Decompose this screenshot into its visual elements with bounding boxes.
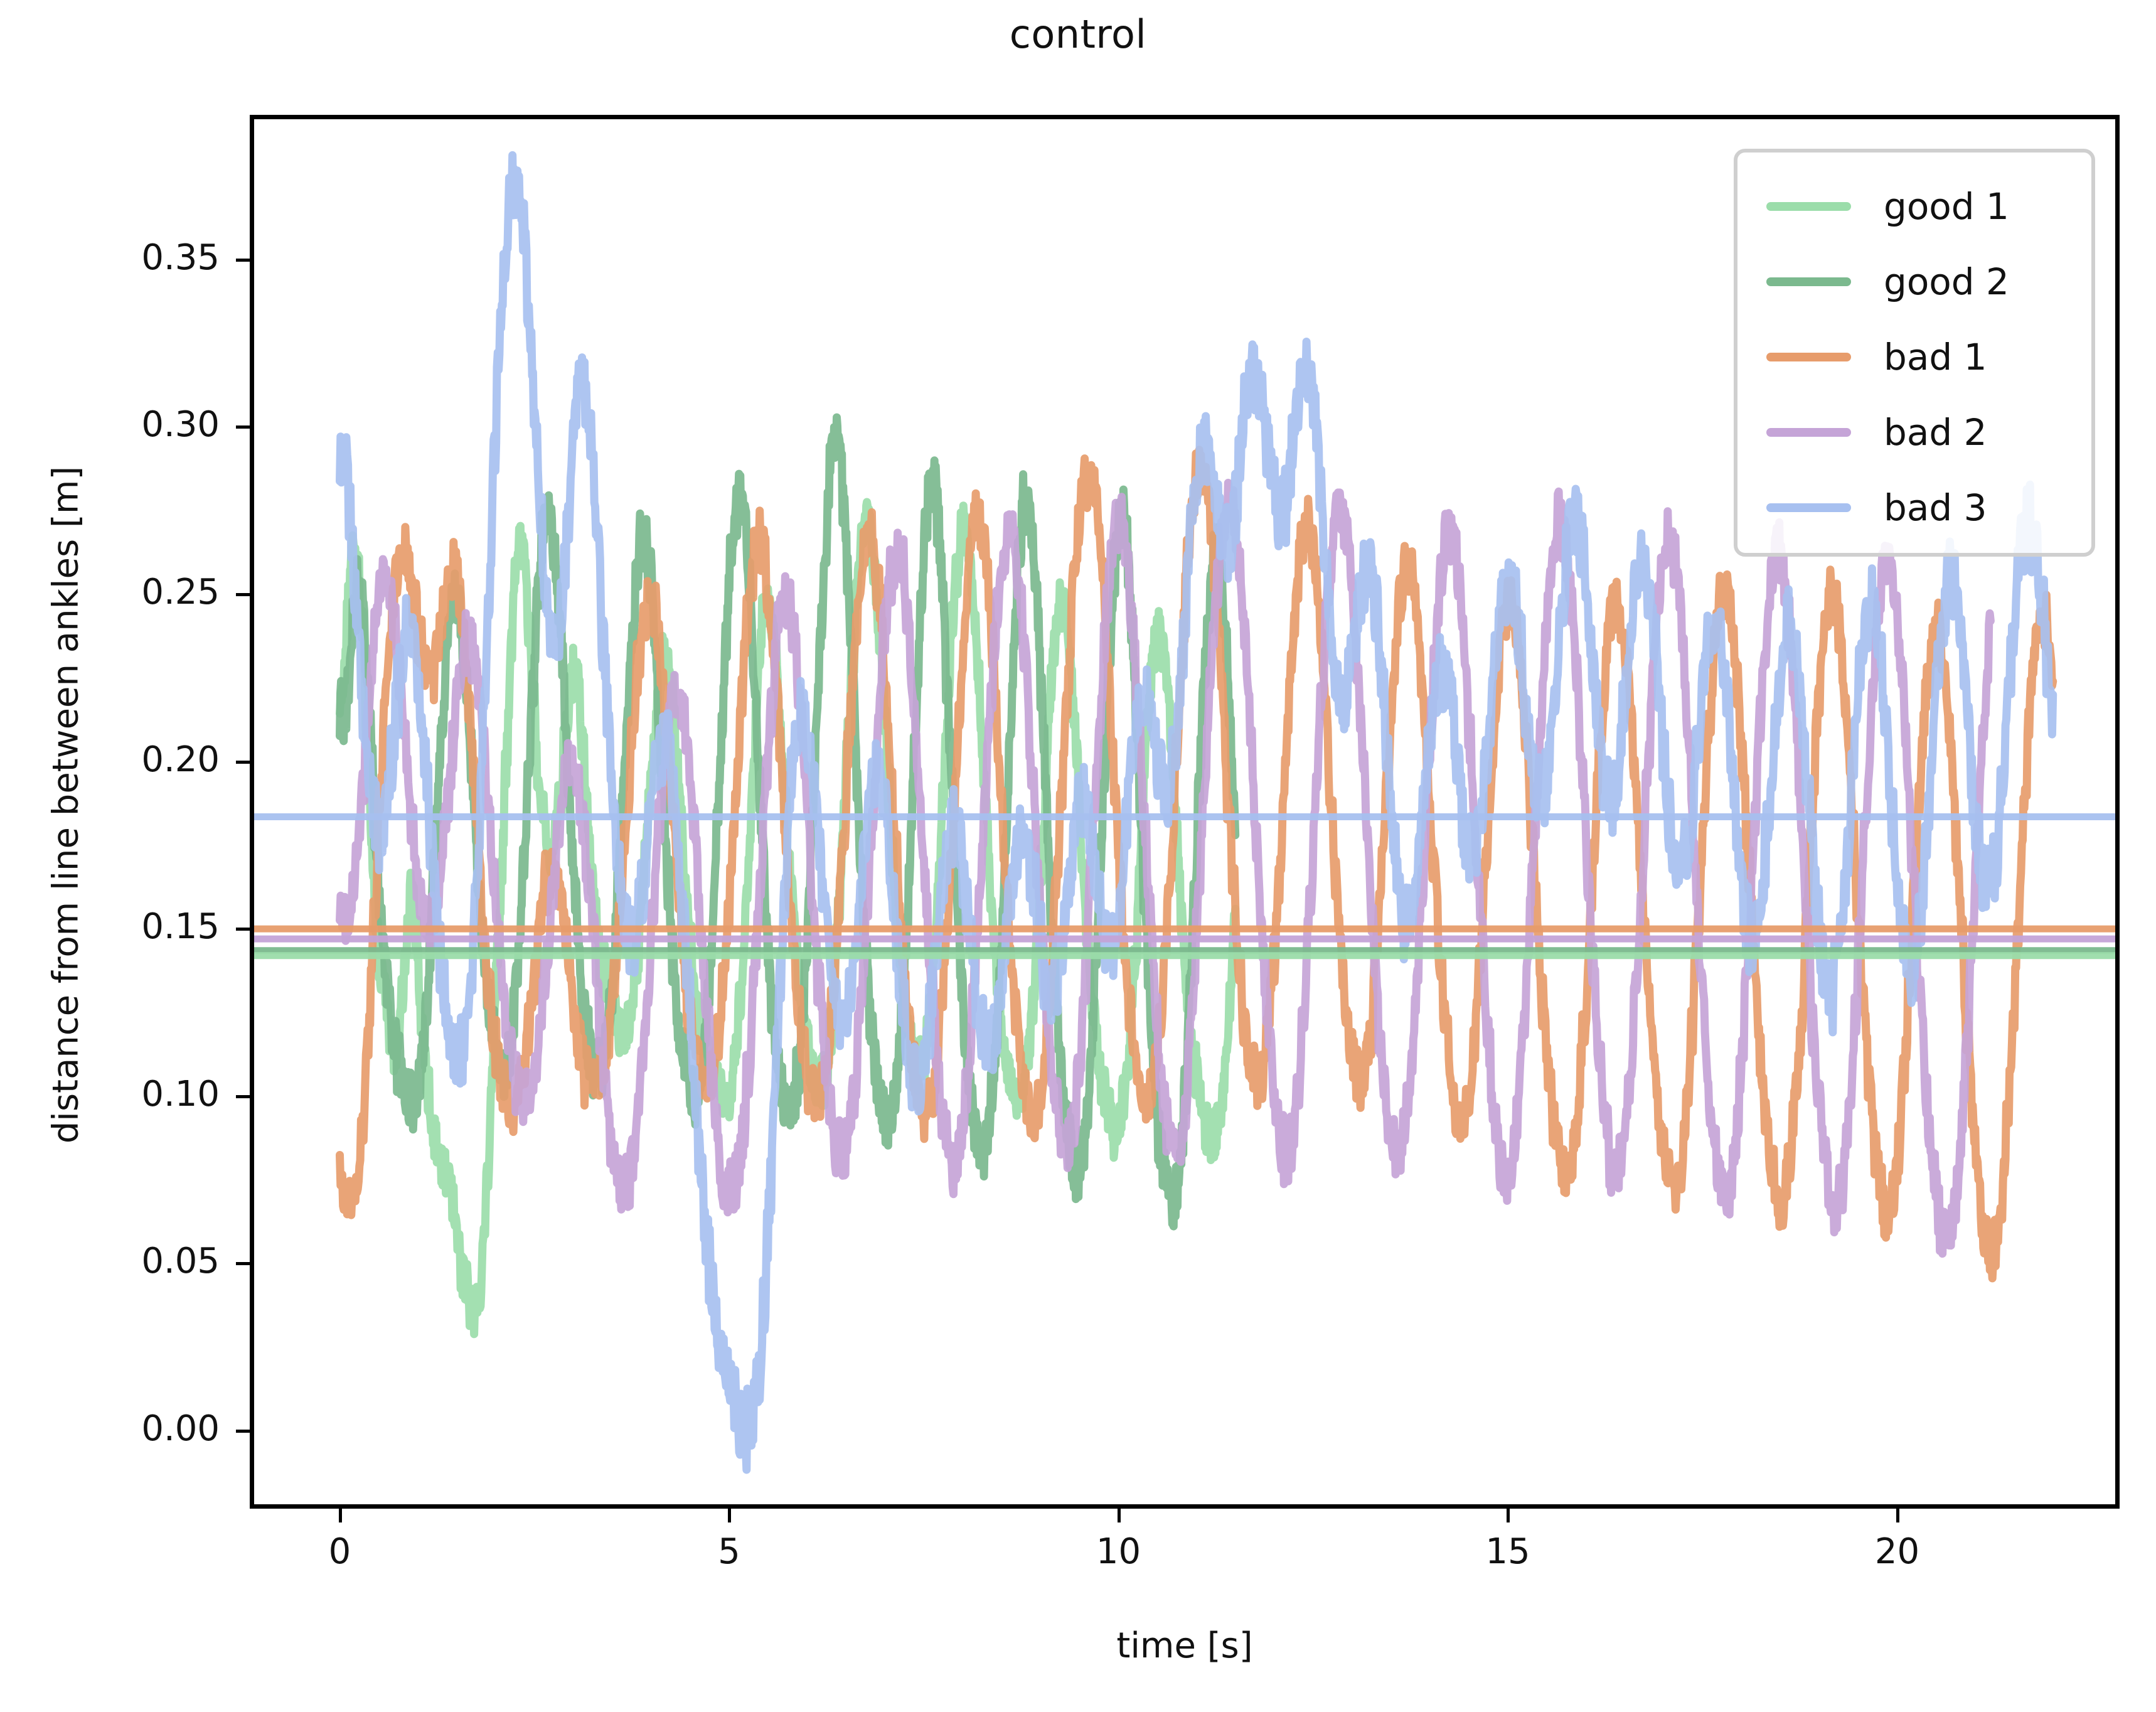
y-tick-label: 0.30 <box>75 404 220 445</box>
legend-item-good-2[interactable]: good 2 <box>1737 244 2091 319</box>
legend-item-bad-2[interactable]: bad 2 <box>1737 395 2091 470</box>
y-tick-label: 0.00 <box>75 1408 220 1449</box>
y-tick-mark <box>236 259 250 262</box>
y-tick-label: 0.20 <box>75 739 220 780</box>
x-tick-mark <box>1896 1509 1899 1522</box>
y-tick-mark <box>236 1095 250 1098</box>
page-title: control <box>0 11 2156 57</box>
x-tick-mark <box>728 1509 731 1522</box>
y-tick-label: 0.35 <box>75 237 220 278</box>
x-tick-label: 20 <box>1847 1531 1948 1572</box>
x-tick-label: 15 <box>1458 1531 1558 1572</box>
y-tick-label: 0.10 <box>75 1074 220 1115</box>
x-axis-label: time [s] <box>250 1625 2120 1666</box>
x-tick-label: 5 <box>679 1531 779 1572</box>
y-axis-label: distance from line between ankles [m] <box>46 105 87 1505</box>
legend-item-label: bad 2 <box>1884 414 1987 451</box>
y-tick-mark <box>236 425 250 429</box>
legend-swatch-icon <box>1766 428 1851 437</box>
legend-item-bad-1[interactable]: bad 1 <box>1737 319 2091 395</box>
y-tick-mark <box>236 1430 250 1433</box>
figure-canvas: control distance from line between ankle… <box>0 0 2156 1712</box>
legend-item-label: good 1 <box>1884 188 2009 225</box>
legend-item-label: bad 3 <box>1884 490 1987 526</box>
y-tick-mark <box>236 593 250 596</box>
legend-swatch-icon <box>1766 202 1851 211</box>
x-tick-mark <box>1507 1509 1510 1522</box>
y-tick-label: 0.25 <box>75 572 220 613</box>
y-tick-label: 0.05 <box>75 1241 220 1281</box>
y-tick-mark <box>236 928 250 931</box>
legend[interactable]: good 1good 2bad 1bad 2bad 3 <box>1734 149 2095 557</box>
y-tick-label: 0.15 <box>75 906 220 947</box>
legend-swatch-icon <box>1766 353 1851 361</box>
x-tick-mark <box>1118 1509 1121 1522</box>
legend-item-bad-3[interactable]: bad 3 <box>1737 470 2091 545</box>
x-tick-mark <box>339 1509 342 1522</box>
y-tick-mark <box>236 761 250 764</box>
legend-item-good-1[interactable]: good 1 <box>1737 169 2091 244</box>
legend-item-label: bad 1 <box>1884 339 1987 375</box>
legend-item-label: good 2 <box>1884 264 2009 300</box>
y-tick-mark <box>236 1262 250 1265</box>
x-tick-label: 10 <box>1069 1531 1169 1572</box>
legend-swatch-icon <box>1766 277 1851 286</box>
x-tick-label: 0 <box>290 1531 390 1572</box>
legend-swatch-icon <box>1766 503 1851 512</box>
